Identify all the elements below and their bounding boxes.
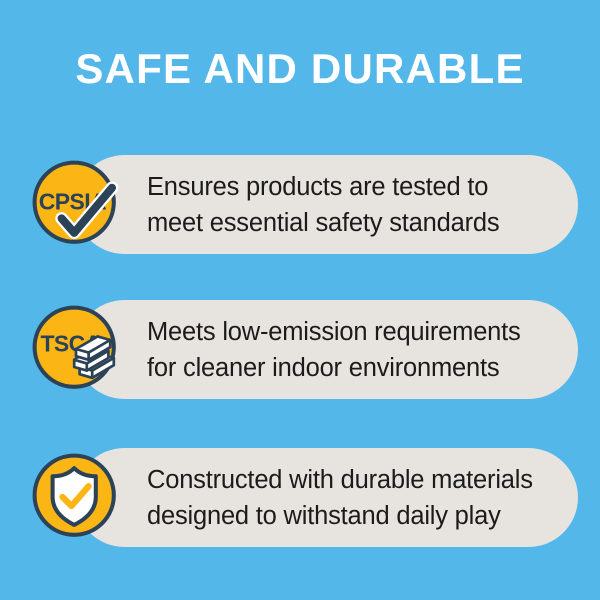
feature-card-text: Ensures products are tested to meet esse… <box>147 169 567 241</box>
feature-card: Ensures products are tested to meet esse… <box>75 155 578 254</box>
feature-text-line-2: meet essential safety standards <box>147 205 567 241</box>
durability-badge <box>31 452 121 542</box>
page-title: SAFE AND DURABLE <box>0 44 600 94</box>
feature-text-line-1: Ensures products are tested to <box>147 169 567 205</box>
poster-canvas: SAFE AND DURABLE Ensures products are te… <box>0 0 600 600</box>
feature-row: Ensures products are tested to meet esse… <box>0 150 600 260</box>
tsca-badge: TSCA <box>31 304 121 394</box>
feature-card: Meets low-emission requirements for clea… <box>75 300 578 399</box>
feature-card-text: Constructed with durable materials desig… <box>147 462 567 534</box>
feature-card-text: Meets low-emission requirements for clea… <box>147 314 567 386</box>
feature-row: Meets low-emission requirements for clea… <box>0 295 600 405</box>
feature-text-line-1: Meets low-emission requirements <box>147 314 567 350</box>
feature-row: Constructed with durable materials desig… <box>0 443 600 553</box>
shield-shape <box>53 468 96 525</box>
shield-check-icon <box>53 468 96 525</box>
feature-text-line-2: for cleaner indoor environments <box>147 350 567 386</box>
feature-card: Constructed with durable materials desig… <box>75 448 578 547</box>
feature-text-line-1: Constructed with durable materials <box>147 462 567 498</box>
feature-text-line-2: designed to withstand daily play <box>147 498 567 534</box>
cpsia-badge: CPSIA <box>31 159 121 249</box>
